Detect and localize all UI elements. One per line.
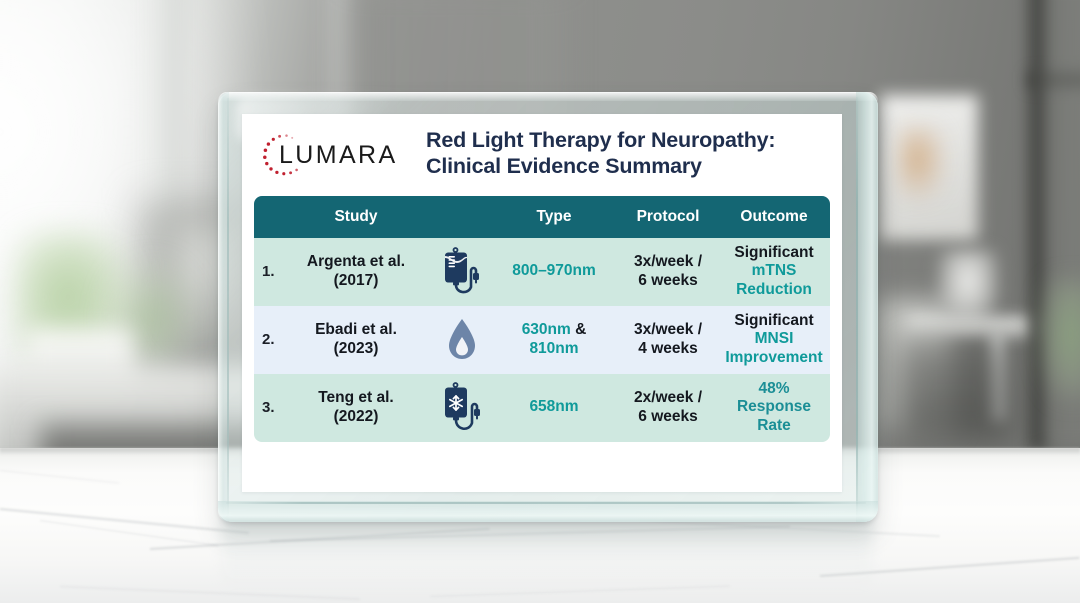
- type-wavelength-2: 810nm: [494, 340, 614, 359]
- title-line-1: Red Light Therapy for Neuropathy:: [426, 128, 775, 152]
- protocol-duration: 4 weeks: [614, 340, 722, 359]
- row-study: Argenta et al. (2017): [282, 253, 430, 290]
- header-cell-study: Study: [282, 208, 430, 226]
- outcome-line-1: Significant mTNS: [722, 244, 826, 281]
- row-index: 3.: [254, 399, 282, 416]
- study-year: (2023): [282, 340, 430, 358]
- row-type: 630nm & 810nm: [494, 321, 614, 358]
- glass-bevel-bottom: [218, 501, 878, 522]
- row-outcome: Significant mTNS Reduction: [722, 244, 830, 300]
- glass-edge-line-left: [227, 98, 229, 514]
- row-protocol: 3x/week / 6 weeks: [614, 253, 722, 290]
- study-year: (2022): [282, 408, 430, 426]
- outcome-prefix: Significant: [734, 244, 813, 261]
- outcome-line-2: Rate: [722, 417, 826, 436]
- study-year: (2017): [282, 272, 430, 290]
- row-index: 1.: [254, 263, 282, 280]
- protocol-frequency: 3x/week /: [614, 321, 722, 340]
- row-protocol: 2x/week / 6 weeks: [614, 389, 722, 426]
- type-wavelength-1: 630nm: [522, 321, 571, 338]
- header-cell-type: Type: [494, 208, 614, 226]
- type-value: 658nm: [494, 398, 614, 417]
- table-header-row: Study Type Protocol Outcome: [254, 196, 830, 238]
- iv-bag-snowflake-icon: [430, 382, 494, 434]
- logo-artwork: LUMARA: [260, 131, 410, 177]
- page-title: Red Light Therapy for Neuropathy: Clinic…: [426, 128, 820, 180]
- evidence-table: Study Type Protocol Outcome 1. Argenta e…: [254, 196, 830, 442]
- glass-bevel-right: [856, 92, 878, 522]
- infographic-card: LUMARA Red Light Therapy for Neuropathy:…: [242, 114, 842, 492]
- row-outcome: Significant MNSI Improvement: [722, 312, 830, 368]
- protocol-frequency: 3x/week /: [614, 253, 722, 272]
- blurred-floor-shadow-right: [900, 340, 1010, 440]
- acrylic-glass-frame: LUMARA Red Light Therapy for Neuropathy:…: [218, 92, 878, 522]
- outcome-line-1: 48% Response: [722, 380, 826, 417]
- outcome-prefix: Significant: [734, 312, 813, 329]
- iv-bag-icon: [430, 247, 494, 297]
- lumara-logo: LUMARA: [260, 131, 410, 177]
- logo-wordmark: LUMARA: [279, 141, 398, 169]
- type-value-line-1: 630nm &: [494, 321, 614, 340]
- card-header: LUMARA Red Light Therapy for Neuropathy:…: [242, 114, 842, 190]
- outcome-line-2: Improvement: [722, 349, 826, 368]
- blurred-greenery-right: [1040, 280, 1080, 400]
- row-outcome: 48% Response Rate: [722, 380, 830, 436]
- study-author: Argenta et al.: [282, 253, 430, 271]
- table-row: 1. Argenta et al. (2017): [254, 238, 830, 306]
- row-type: 800–970nm: [494, 262, 614, 281]
- outcome-line-2: Reduction: [722, 281, 826, 300]
- protocol-duration: 6 weeks: [614, 408, 722, 427]
- outcome-metric: mTNS: [752, 262, 797, 279]
- type-value: 800–970nm: [494, 262, 614, 281]
- water-droplet-icon: [430, 316, 494, 364]
- frame-reflection: [222, 519, 872, 591]
- study-author: Ebadi et al.: [282, 321, 430, 339]
- header-cell-protocol: Protocol: [614, 208, 722, 226]
- table-row: 3. Teng et al. (2022): [254, 374, 830, 442]
- header-cell-outcome: Outcome: [722, 208, 830, 226]
- protocol-frequency: 2x/week /: [614, 389, 722, 408]
- outcome-line-1: Significant MNSI: [722, 312, 826, 349]
- blurred-picture-artwork: [898, 125, 946, 201]
- glass-edge-line-bottom: [226, 502, 866, 504]
- protocol-duration: 6 weeks: [614, 272, 722, 291]
- row-type: 658nm: [494, 398, 614, 417]
- row-protocol: 3x/week / 4 weeks: [614, 321, 722, 358]
- study-author: Teng et al.: [282, 389, 430, 407]
- outcome-metric: MNSI: [755, 330, 794, 347]
- glass-edge-line-right: [856, 97, 858, 515]
- row-study: Teng et al. (2022): [282, 389, 430, 426]
- title-line-2: Clinical Evidence Summary: [426, 154, 820, 180]
- blurred-side-table: [908, 316, 1038, 338]
- row-study: Ebadi et al. (2023): [282, 321, 430, 358]
- table-row: 2. Ebadi et al. (2023) 630nm & 810nm 3x: [254, 306, 830, 374]
- row-index: 2.: [254, 331, 282, 348]
- type-conjunction: &: [571, 321, 587, 338]
